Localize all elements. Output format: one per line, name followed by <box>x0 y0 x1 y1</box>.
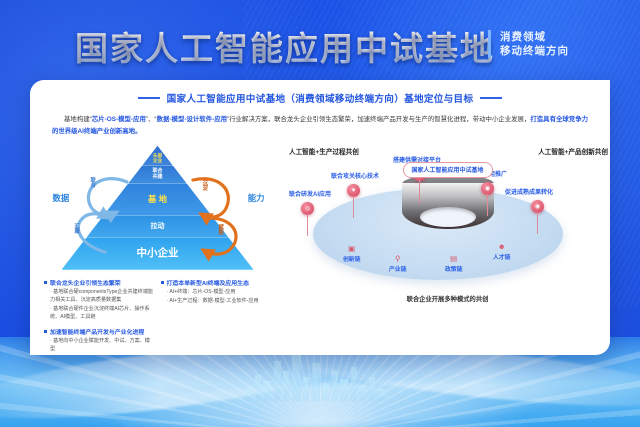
rule-left <box>138 97 160 99</box>
bullet-heading-text: 联合龙头企业引领生态繁荣 <box>50 278 121 287</box>
skyline-building <box>351 367 357 401</box>
bullet-item: · 基地联合硬件企业沉淀终端AI芯片、操作系统、AI模型、工具链 <box>50 306 155 322</box>
subtitle-line-1: 消费领域 <box>500 30 569 44</box>
paragraph-highlight: 数据-模型-设计软件-应用 <box>157 116 228 123</box>
group-label-right: 人工智能+产品创新共创 <box>538 146 608 156</box>
pyramid-arrow-3 <box>193 178 228 216</box>
skyline-building <box>292 355 301 401</box>
bullet-item: · 基地向中小企业赋能开发、中试、方案、模型 <box>50 338 155 354</box>
policy-icon: ▤ <box>449 254 458 263</box>
node-label: 联合攻关核心技术 <box>331 171 379 180</box>
diagram-node[interactable]: ◎联合研发AI应用 <box>301 202 314 215</box>
skyline-building <box>359 385 366 401</box>
bullet-item: · AI+生产过程：数据-模型-工业软件-应用 <box>167 298 272 306</box>
skyline-building <box>377 389 385 401</box>
skyline-building <box>245 387 252 401</box>
skyline-building <box>255 375 261 401</box>
chain-label: 创新链 <box>343 254 360 263</box>
bullet-square-icon <box>161 281 164 284</box>
bullet-item: · 基地联合硬componentsType企业共建终端能力相关工具、沉淀高质量数… <box>50 289 155 305</box>
skyline-building <box>322 383 329 401</box>
chain-node[interactable]: ▤政策链 <box>445 254 462 273</box>
right-column: 国家人工智能应用中试基地 ◎联合研发AI应用✷联合攻关核心技术⌁搭建供需对接平台… <box>285 144 610 355</box>
bullet-block: 打造本单新型AI终端及应用生态· AI+终端：芯片-OS-模型-应用· AI+生… <box>161 278 272 324</box>
group-label-left: 人工智能+生产过程共创 <box>289 146 359 156</box>
chain-label: 产业链 <box>389 264 406 273</box>
skyline-building <box>283 371 289 401</box>
factory-icon: ⚲ <box>393 254 402 263</box>
node-stem <box>307 214 308 236</box>
person-icon: ☻ <box>497 242 506 251</box>
chain-label: 人才链 <box>493 252 510 261</box>
chain-node[interactable]: ▣创新链 <box>343 244 360 263</box>
paragraph-highlight: 芯片-OS-模型-应用 <box>92 116 146 123</box>
bullet-heading-text: 加速智能终端产品开发与产业化进程 <box>50 327 144 336</box>
node-stem <box>487 194 488 216</box>
node-stem <box>419 180 420 204</box>
lightbulb-icon: ▣ <box>347 244 356 253</box>
hub-inner-hole <box>420 207 476 227</box>
node-label: 促进成熟成果转化 <box>505 187 553 196</box>
node-label: 联合研发AI应用 <box>289 189 331 198</box>
pyramid-arrow-label: 汇聚 <box>75 225 80 236</box>
bullet-block: 联合龙头企业引领生态繁荣· 基地联合硬componentsType企业共建终端能… <box>44 278 155 324</box>
diagram-caption: 联合企业开展多种模式的共创 <box>285 294 610 303</box>
pyramid-arrow-label: 联合 <box>91 179 96 190</box>
rule-right <box>480 97 502 99</box>
diagram-node[interactable]: ✷联合攻关核心技术 <box>347 184 360 197</box>
pyramid-diagram: 头部企业联合共建基 地拉动中小企业数据能力联合汇聚沉淀赋能 <box>43 146 273 274</box>
section-title-text: 国家人工智能应用中试基地（消费领域移动终端方向）基地定位与目标 <box>167 91 474 105</box>
bullet-block-heading: 打造本单新型AI终端及应用生态 <box>161 278 272 287</box>
section-title: 国家人工智能应用中试基地（消费领域移动终端方向）基地定位与目标 <box>30 91 610 105</box>
page-title: 国家人工智能应用中试基地 <box>75 22 495 70</box>
skyline-building <box>332 371 338 401</box>
pyramid-arrow-label: 赋能 <box>219 226 224 237</box>
intro-paragraph: 基地构建“芯片-OS-模型-应用”、“数据-模型-设计软件-应用”行业解决方案，… <box>52 114 588 138</box>
bullet-block-wide: 加速智能终端产品开发与产业化进程· 基地向中小企业赋能开发、中试、方案、模型· … <box>44 327 155 355</box>
diagram-node[interactable]: ◉促进成熟成果转化 <box>531 200 544 213</box>
bullet-blocks-row-1: 联合龙头企业引领生态繁荣· 基地联合硬componentsType企业共建终端能… <box>30 278 285 324</box>
header-subtitle: 消费领域 移动终端方向 <box>488 30 569 58</box>
pyramid-arrows <box>43 146 273 274</box>
bullet-block-heading: 联合龙头企业引领生态繁荣 <box>44 278 155 287</box>
bullet-blocks-row-2: 加速智能终端产品开发与产业化进程· 基地向中小企业赋能开发、中试、方案、模型· … <box>30 327 285 355</box>
skyline-building <box>303 377 309 401</box>
bullet-item: · AI+终端：芯片-OS-模型-应用 <box>167 289 272 297</box>
chain-label: 政策链 <box>445 264 462 273</box>
diagram-node[interactable]: ◉开展示范应用推广 <box>481 182 494 195</box>
chain-node[interactable]: ☻人才链 <box>493 242 510 261</box>
pyramid-arrow-2 <box>78 213 109 251</box>
city-skyline-silhouette <box>245 353 395 401</box>
skyline-building <box>369 377 375 401</box>
skyline-building <box>312 363 320 401</box>
bullet-heading-text: 打造本单新型AI终端及应用生态 <box>167 278 249 287</box>
bullet-spacer <box>161 327 272 355</box>
hub-label: 国家人工智能应用中试基地 <box>402 162 492 178</box>
skyline-building <box>340 379 348 401</box>
bullet-square-icon <box>44 330 47 333</box>
left-column: 头部企业联合共建基 地拉动中小企业数据能力联合汇聚沉淀赋能 联合龙头企业引领生态… <box>30 144 285 355</box>
page-header: 国家人工智能应用中试基地 消费领域 移动终端方向 <box>0 0 640 88</box>
bullet-square-icon <box>44 281 47 284</box>
skyline-building <box>263 381 271 401</box>
node-stem <box>537 212 538 234</box>
pyramid-arrow-label: 沉淀 <box>203 182 208 193</box>
bullet-block: 加速智能终端产品开发与产业化进程· 基地向中小企业赋能开发、中试、方案、模型· … <box>44 327 155 355</box>
content-card: 国家人工智能应用中试基地（消费领域移动终端方向）基地定位与目标 基地构建“芯片-… <box>30 80 610 355</box>
node-stem <box>353 196 354 218</box>
subtitle-line-2: 移动终端方向 <box>500 44 569 58</box>
card-columns: 头部企业联合共建基 地拉动中小企业数据能力联合汇聚沉淀赋能 联合龙头企业引领生态… <box>30 144 610 355</box>
bullet-block-heading: 加速智能终端产品开发与产业化进程 <box>44 327 155 336</box>
skyline-building <box>274 361 281 401</box>
chain-node[interactable]: ⚲产业链 <box>389 254 406 273</box>
hub-cylinder <box>402 174 494 238</box>
